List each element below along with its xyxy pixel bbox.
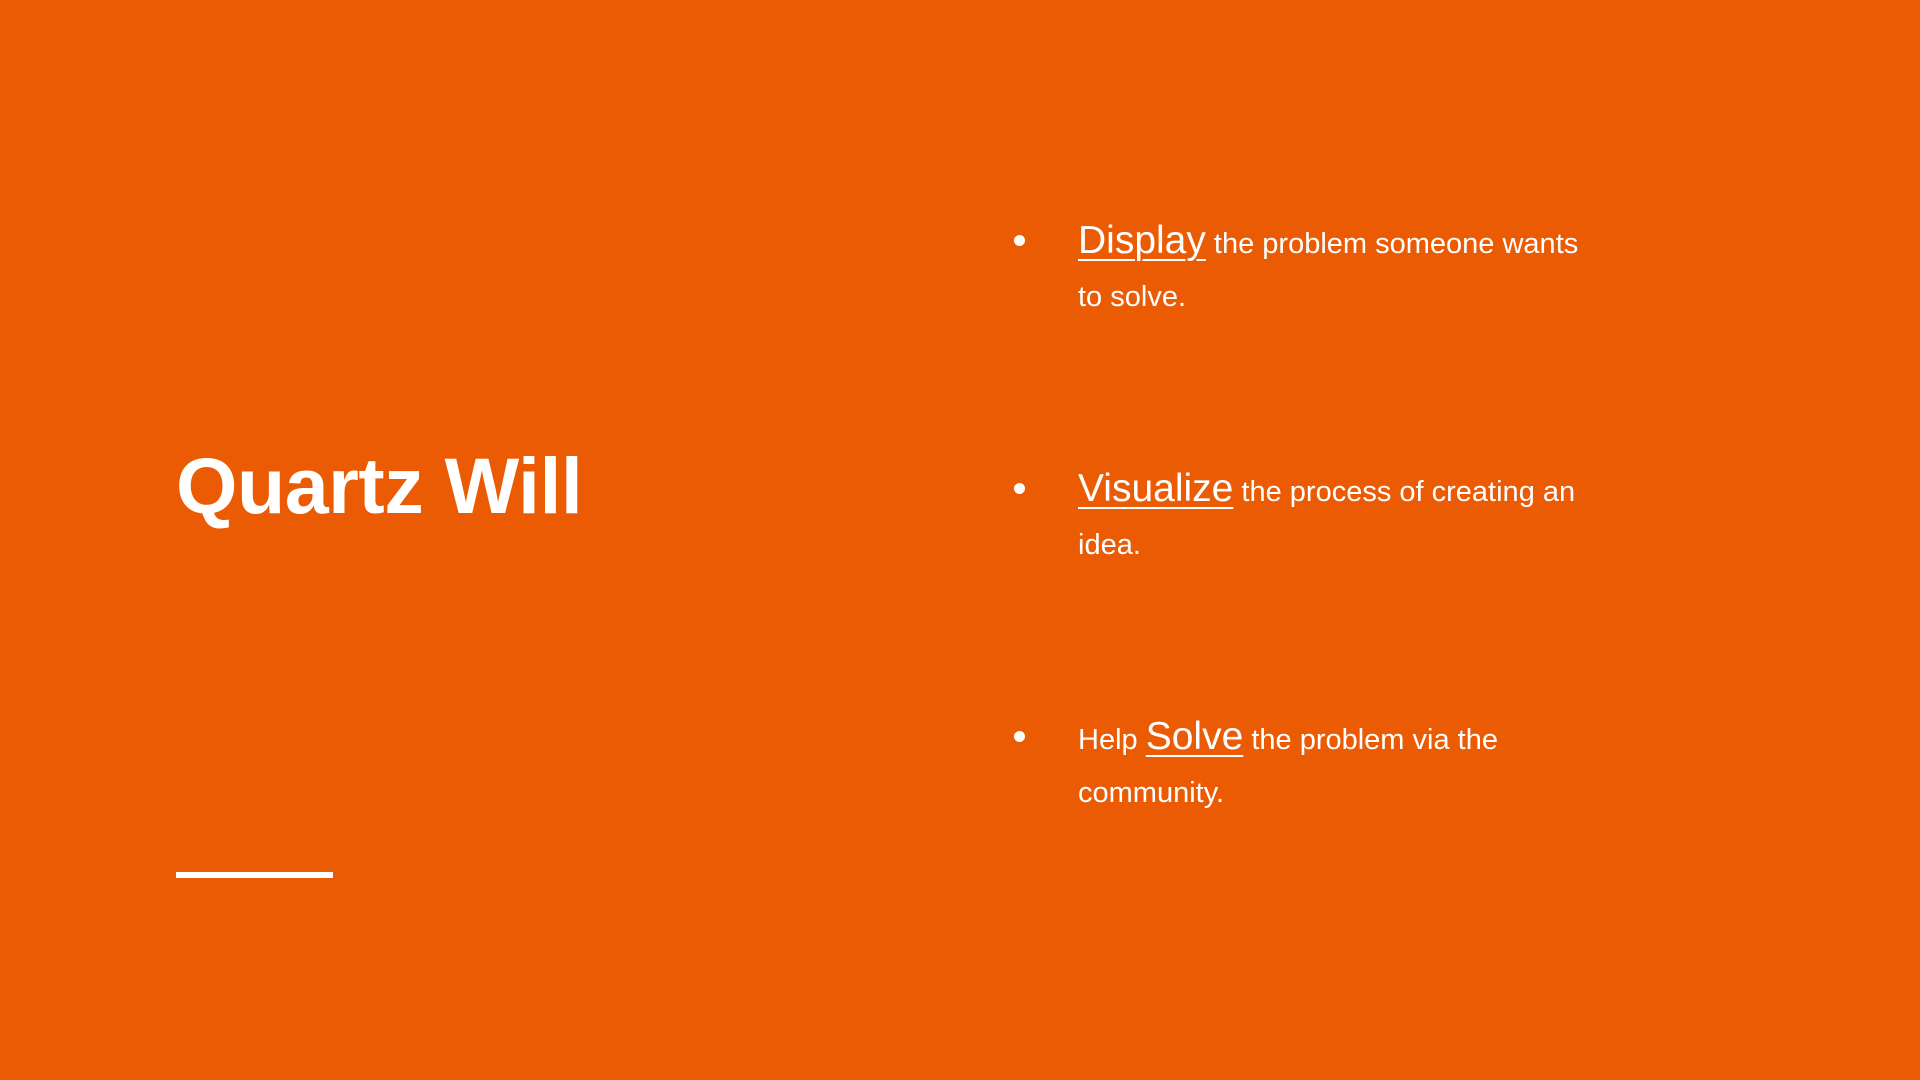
title-divider-rule xyxy=(176,872,333,878)
slide-right-column: Display the problem someone wants to sol… xyxy=(1000,214,1620,820)
bullet-keyword: Solve xyxy=(1146,715,1244,758)
list-item: Help Solve the problem via the community… xyxy=(1000,710,1598,820)
page-title: Quartz Will xyxy=(176,443,582,530)
bullet-dot-icon xyxy=(1014,731,1025,742)
list-item: Visualize the process of creating an ide… xyxy=(1000,462,1598,572)
bullet-lead-text: Help xyxy=(1078,724,1146,756)
slide-left-column: Quartz Will xyxy=(0,0,900,1080)
bullet-keyword: Display xyxy=(1078,219,1206,262)
bullet-dot-icon xyxy=(1014,483,1025,494)
list-item: Display the problem someone wants to sol… xyxy=(1000,214,1598,324)
presentation-slide: Quartz Will Display the problem someone … xyxy=(0,0,1920,1080)
bullet-dot-icon xyxy=(1014,235,1025,246)
bullet-list: Display the problem someone wants to sol… xyxy=(1000,214,1620,820)
bullet-keyword: Visualize xyxy=(1078,467,1233,510)
